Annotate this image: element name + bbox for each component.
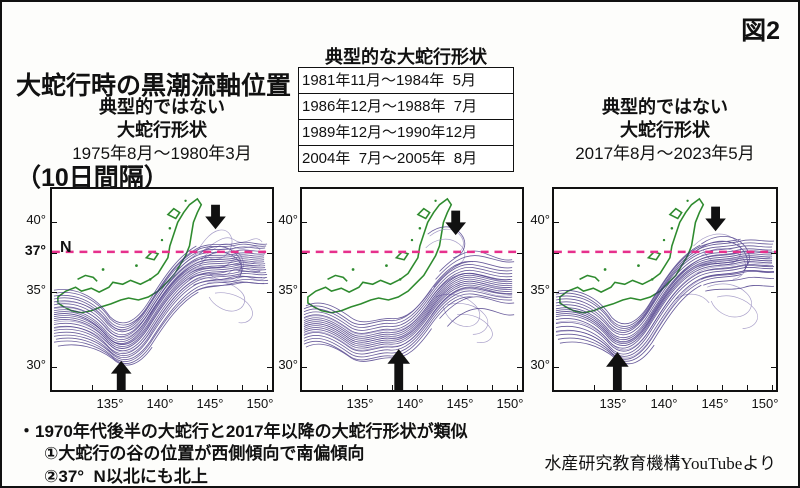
source-credit: 水産研究教育機構YouTubeより: [544, 449, 776, 474]
notes-block: ・1970年代後半の大蛇行と2017年以降の大蛇行形状が類似 ①大蛇行の谷の位置…: [18, 421, 468, 488]
panel-right-heading-line1: 典型的ではない: [550, 96, 780, 119]
panel-right-period: 2017年8月〜2023年5月: [550, 143, 780, 165]
x-axis-label-140-left: 140°: [140, 397, 180, 410]
y-axis-label-30-right: 30°: [516, 358, 550, 371]
panel-left-heading: 典型的ではない 大蛇行形状 1975年8月〜1980年3月: [50, 96, 274, 165]
coastline-path: [58, 199, 201, 313]
y-axis-label-40-center: 40°: [264, 213, 298, 226]
table-row: 1981年11月〜1984年 5月: [299, 68, 514, 94]
map-panel-right: [552, 187, 778, 392]
arrow-down-icon: [205, 205, 226, 230]
table-row: 1986年12月〜1988年 7月: [299, 94, 514, 120]
map-plot-left: [52, 189, 272, 390]
coastline-path: [308, 199, 451, 313]
x-axis-label-145-right: 145°: [694, 397, 736, 410]
arrow-down-icon: [705, 207, 726, 232]
arrow-down-icon: [445, 211, 466, 236]
x-axis-label-150-center: 150°: [490, 397, 530, 410]
x-axis-label-145-center: 145°: [440, 397, 480, 410]
panel-left-heading-line1: 典型的ではない: [50, 96, 274, 119]
table-cell-period: 1986年12月〜1988年 7月: [299, 94, 514, 120]
figure-root: 大蛇行時の黒潮流軸位置 （10日間隔） 図2 典型的ではない 大蛇行形状 197…: [0, 0, 800, 488]
island-dots: [352, 200, 437, 281]
x-axis-label-140-right: 140°: [643, 397, 685, 410]
panel-left-heading-line2: 大蛇行形状: [50, 119, 274, 142]
table-cell-period: 2004年 7月〜2005年 8月: [299, 146, 514, 172]
y-axis-label-35-right: 35°: [516, 283, 550, 296]
map-plot-center: [302, 189, 522, 390]
table-row: 1989年12月〜1990年12月: [299, 120, 514, 146]
map-plot-right: [554, 189, 776, 390]
y-axis-label-37: 37°: [6, 243, 46, 257]
x-axis-label-135-center: 135°: [340, 397, 380, 410]
note-main: ・1970年代後半の大蛇行と2017年以降の大蛇行形状が類似: [18, 421, 468, 443]
figure-number-badge: 図2: [741, 11, 780, 47]
table-row: 2004年 7月〜2005年 8月: [299, 146, 514, 172]
x-axis-label-145-left: 145°: [190, 397, 230, 410]
stream-lines-core: [304, 227, 514, 362]
x-axis-label-135-right: 135°: [592, 397, 634, 410]
typical-table-heading: 典型的な大蛇行形状: [298, 43, 514, 69]
x-axis-label-140-center: 140°: [390, 397, 430, 410]
y-axis-n-label: N: [60, 240, 72, 256]
x-axis-label-135-left: 135°: [90, 397, 130, 410]
note-sub-2: ②37° N以北にも北上: [44, 466, 468, 488]
table-cell-period: 1989年12月〜1990年12月: [299, 120, 514, 146]
panel-right-heading: 典型的ではない 大蛇行形状 2017年8月〜2023年5月: [550, 96, 780, 165]
y-axis-label-35-center: 35°: [264, 283, 298, 296]
arrow-up-icon: [387, 349, 410, 390]
map-panel-center: [300, 187, 524, 392]
note-sub-1: ①大蛇行の谷の位置が西側傾向で南偏傾向: [44, 443, 468, 466]
y-axis-label-30: 30°: [10, 358, 46, 371]
panel-left-period: 1975年8月〜1980年3月: [50, 143, 274, 165]
x-axis-label-150-left: 150°: [240, 397, 280, 410]
y-axis-label-35: 35°: [10, 283, 46, 296]
stream-lines-core: [54, 242, 268, 365]
x-axis-label-150-right: 150°: [744, 397, 786, 410]
y-axis-label-40: 40°: [10, 213, 46, 226]
map-panel-left: [50, 187, 274, 392]
panel-right-heading-line2: 大蛇行形状: [550, 119, 780, 142]
stream-lines-core: [556, 236, 774, 363]
table-cell-period: 1981年11月〜1984年 5月: [299, 68, 514, 94]
y-axis-label-30-center: 30°: [264, 358, 298, 371]
y-axis-label-40-right: 40°: [516, 213, 550, 226]
typical-periods-table: 1981年11月〜1984年 5月 1986年12月〜1988年 7月 1989…: [298, 67, 514, 172]
